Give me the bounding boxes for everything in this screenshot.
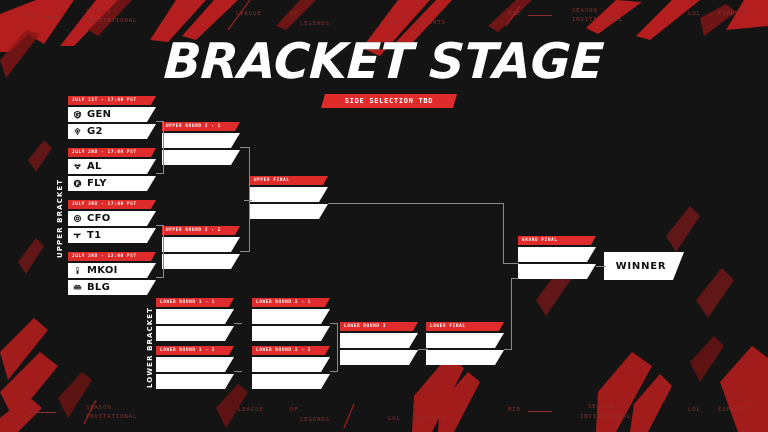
match-header-text: JULY 1ST - 17:00 PST bbox=[72, 98, 137, 103]
match-slot[interactable] bbox=[162, 133, 240, 148]
connector bbox=[511, 278, 519, 279]
match-slot[interactable] bbox=[426, 333, 504, 348]
winner-box[interactable]: WINNER bbox=[604, 252, 684, 280]
winner-label: WINNER bbox=[616, 261, 667, 272]
match-lower-r1-1[interactable]: LOWER ROUND 1 - 1 bbox=[156, 298, 234, 341]
match-header-text: UPPER ROUND 2 - 2 bbox=[166, 228, 221, 233]
match-slot[interactable] bbox=[252, 309, 330, 324]
ctbc-flying-oyster-icon bbox=[73, 214, 82, 223]
match-slot[interactable] bbox=[250, 187, 328, 202]
match-upper-r2-1[interactable]: UPPER ROUND 2 - 1 bbox=[162, 122, 240, 165]
match-header-text: LOWER ROUND 2 - 1 bbox=[256, 300, 311, 305]
connector bbox=[418, 349, 428, 350]
match-header-text: LOWER ROUND 2 - 2 bbox=[256, 348, 311, 353]
connector bbox=[244, 200, 252, 201]
match-slot[interactable] bbox=[518, 247, 596, 262]
page-title-text: BRACKET STAGE bbox=[163, 36, 605, 88]
match-header: UPPER ROUND 2 - 2 bbox=[162, 226, 240, 235]
match-lower-r3[interactable]: LOWER ROUND 3 bbox=[340, 322, 418, 365]
connector bbox=[234, 323, 242, 324]
page-title: BRACKET STAGE bbox=[0, 36, 768, 88]
connector bbox=[503, 263, 519, 264]
flyquest-icon bbox=[73, 179, 82, 188]
team-name: CFO bbox=[87, 213, 111, 224]
match-header-text: LOWER ROUND 1 - 1 bbox=[160, 300, 215, 305]
connector bbox=[511, 278, 512, 350]
gen-g-icon bbox=[73, 110, 82, 119]
match-slot[interactable] bbox=[252, 374, 330, 389]
match-upper-r1-2[interactable]: JULY 2ND - 17:00 PST AL FLY bbox=[68, 148, 156, 191]
match-header: LOWER FINAL bbox=[426, 322, 504, 331]
match-slot[interactable]: G2 bbox=[68, 124, 156, 139]
anyones-legend-icon bbox=[73, 162, 82, 171]
connector bbox=[596, 266, 606, 267]
match-header: LOWER ROUND 2 - 2 bbox=[252, 346, 330, 355]
match-upper-r2-2[interactable]: UPPER ROUND 2 - 2 bbox=[162, 226, 240, 269]
connector bbox=[163, 225, 164, 278]
match-lower-final[interactable]: LOWER FINAL bbox=[426, 322, 504, 365]
match-slot[interactable]: T1 bbox=[68, 228, 156, 243]
match-slot[interactable] bbox=[156, 357, 234, 372]
connector bbox=[163, 121, 164, 174]
match-slot[interactable] bbox=[156, 309, 234, 324]
match-upper-r1-3[interactable]: JULY 3RD - 17:00 PST CFO T1 bbox=[68, 200, 156, 243]
match-header-text: JULY 2ND - 17:00 PST bbox=[72, 150, 137, 155]
match-header: LOWER ROUND 2 - 1 bbox=[252, 298, 330, 307]
match-lower-r2-1[interactable]: LOWER ROUND 2 - 1 bbox=[252, 298, 330, 341]
match-header-text: LOWER ROUND 1 - 2 bbox=[160, 348, 215, 353]
match-slot[interactable] bbox=[340, 350, 418, 365]
match-slot[interactable] bbox=[518, 264, 596, 279]
match-header: LOWER ROUND 3 bbox=[340, 322, 418, 331]
upper-bracket-label: UPPER BRACKET bbox=[56, 179, 64, 258]
match-slot[interactable] bbox=[162, 237, 240, 252]
match-upper-final[interactable]: UPPER FINAL bbox=[250, 176, 328, 219]
match-slot[interactable]: AL bbox=[68, 159, 156, 174]
lower-bracket-label: LOWER BRACKET bbox=[146, 307, 154, 388]
match-header-text: JULY 3RD - 17:00 PST bbox=[72, 202, 137, 207]
match-header: LOWER ROUND 1 - 1 bbox=[156, 298, 234, 307]
connector bbox=[328, 203, 503, 204]
match-header: JULY 2ND - 17:00 PST bbox=[68, 148, 156, 157]
team-name: AL bbox=[87, 161, 102, 172]
match-slot[interactable]: CFO bbox=[68, 211, 156, 226]
t1-icon bbox=[73, 231, 82, 240]
connector bbox=[337, 323, 338, 372]
match-upper-r1-1[interactable]: JULY 1ST - 17:00 PST GEN G2 bbox=[68, 96, 156, 139]
connector bbox=[503, 203, 504, 264]
connector bbox=[234, 371, 242, 372]
match-header-text: JULY 3RD - 12:00 PST bbox=[72, 254, 137, 259]
match-header-text: LOWER ROUND 3 bbox=[344, 324, 386, 329]
side-selection-banner-text: SIDE SELECTION TBD bbox=[345, 97, 433, 105]
side-selection-banner: SIDE SELECTION TBD bbox=[321, 94, 457, 108]
match-slot[interactable] bbox=[252, 357, 330, 372]
bilibili-gaming-icon bbox=[73, 283, 82, 292]
team-name: BLG bbox=[87, 282, 110, 293]
match-header: GRAND FINAL bbox=[518, 236, 596, 245]
bracket-stage-graphic: MID SEASON INVITATIONAL LEAGUE OF LEGEND… bbox=[0, 0, 768, 432]
match-lower-r2-2[interactable]: LOWER ROUND 2 - 2 bbox=[252, 346, 330, 389]
match-lower-r1-2[interactable]: LOWER ROUND 1 - 2 bbox=[156, 346, 234, 389]
movistar-koi-icon bbox=[73, 266, 82, 275]
match-header-text: LOWER FINAL bbox=[430, 324, 466, 329]
match-header-text: GRAND FINAL bbox=[522, 238, 558, 243]
match-slot[interactable] bbox=[250, 204, 328, 219]
match-header: LOWER ROUND 1 - 2 bbox=[156, 346, 234, 355]
team-name: GEN bbox=[87, 109, 111, 120]
match-slot[interactable]: BLG bbox=[68, 280, 156, 295]
team-name: T1 bbox=[87, 230, 101, 241]
match-header: JULY 3RD - 17:00 PST bbox=[68, 200, 156, 209]
team-name: MKOI bbox=[87, 265, 118, 276]
match-slot[interactable] bbox=[162, 254, 240, 269]
match-header: UPPER ROUND 2 - 1 bbox=[162, 122, 240, 131]
team-name: FLY bbox=[87, 178, 107, 189]
match-grand-final[interactable]: GRAND FINAL bbox=[518, 236, 596, 279]
match-header: JULY 1ST - 17:00 PST bbox=[68, 96, 156, 105]
match-header-text: UPPER ROUND 2 - 1 bbox=[166, 124, 221, 129]
match-slot[interactable] bbox=[156, 326, 234, 341]
g2-esports-icon bbox=[73, 127, 82, 136]
match-upper-r1-4[interactable]: JULY 3RD - 12:00 PST MKOI BLG bbox=[68, 252, 156, 295]
match-slot[interactable]: GEN bbox=[68, 107, 156, 122]
match-slot[interactable]: MKOI bbox=[68, 263, 156, 278]
match-slot[interactable] bbox=[156, 374, 234, 389]
match-slot[interactable] bbox=[162, 150, 240, 165]
match-header: UPPER FINAL bbox=[250, 176, 328, 185]
team-name: G2 bbox=[87, 126, 103, 137]
match-header-text: UPPER FINAL bbox=[254, 178, 290, 183]
match-slot[interactable] bbox=[340, 333, 418, 348]
match-slot[interactable]: FLY bbox=[68, 176, 156, 191]
match-header: JULY 3RD - 12:00 PST bbox=[68, 252, 156, 261]
match-slot[interactable] bbox=[252, 326, 330, 341]
match-slot[interactable] bbox=[426, 350, 504, 365]
